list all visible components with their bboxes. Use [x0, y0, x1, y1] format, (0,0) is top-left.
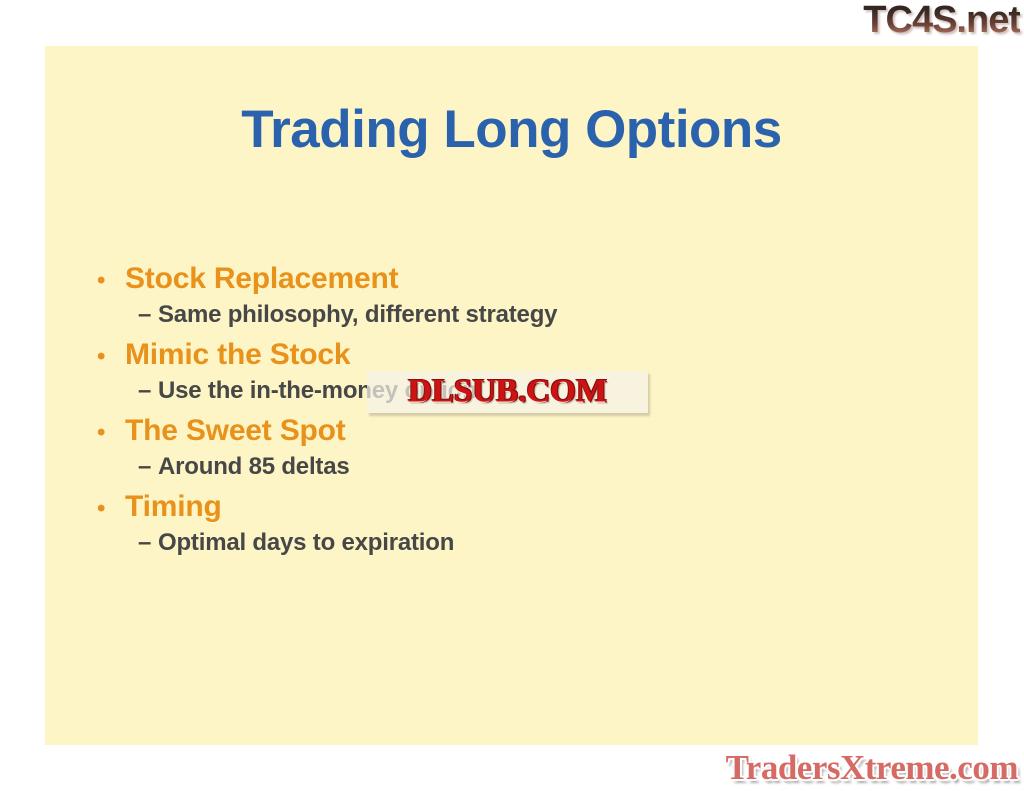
bullet-level2-label: Optimal days to expiration	[158, 531, 454, 555]
bullet-dash-icon: –	[90, 455, 158, 479]
bullet-level2-label: Same philosophy, different strategy	[158, 303, 557, 327]
bullet-level2: – Optimal days to expiration	[90, 531, 950, 555]
bullet-level1: • Timing	[90, 492, 950, 522]
bullet-dash-icon: –	[90, 379, 158, 403]
bullet-level1: • The Sweet Spot	[90, 416, 950, 446]
bullet-dash-icon: –	[90, 303, 158, 327]
watermark-tradersxtreme: TradersXtreme.com	[726, 750, 1018, 785]
bullet-dot-icon: •	[90, 497, 125, 521]
bullet-level2-label: Around 85 deltas	[158, 455, 350, 479]
bullet-group: • The Sweet Spot – Around 85 deltas	[90, 416, 950, 479]
bullet-dot-icon: •	[90, 269, 125, 293]
bullet-level1-label: Stock Replacement	[125, 264, 398, 294]
bullet-dot-icon: •	[90, 421, 125, 445]
bullet-level1: • Stock Replacement	[90, 264, 950, 294]
bullet-level2: – Around 85 deltas	[90, 455, 950, 479]
bullet-list: • Stock Replacement – Same philosophy, d…	[90, 264, 950, 568]
bullet-dot-icon: •	[90, 345, 125, 369]
watermark-dlsub-label: DLSUB.COM	[408, 376, 607, 409]
bullet-level1-label: Mimic the Stock	[125, 340, 350, 370]
watermark-dlsub: DLSUB.COM	[367, 371, 648, 413]
bullet-level2: – Same philosophy, different strategy	[90, 303, 950, 327]
bullet-level1: • Mimic the Stock	[90, 340, 950, 370]
bullet-level1-label: Timing	[125, 492, 222, 522]
page-title: Trading Long Options	[45, 102, 978, 158]
bullet-group: • Timing – Optimal days to expiration	[90, 492, 950, 555]
watermark-tc4s: TC4S.net	[863, 1, 1020, 39]
bullet-group: • Stock Replacement – Same philosophy, d…	[90, 264, 950, 327]
bullet-level1-label: The Sweet Spot	[125, 416, 346, 446]
bullet-dash-icon: –	[90, 531, 158, 555]
